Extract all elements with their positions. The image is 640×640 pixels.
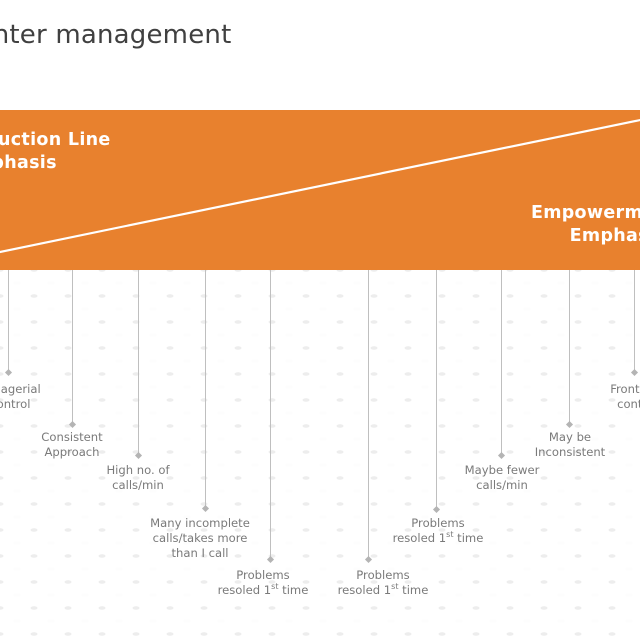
node-label-problems-resolved-first-time-2: Problemsresoled 1st time xyxy=(313,568,453,598)
node-label-problems-resolved-first-time-3: Problemsresoled 1st time xyxy=(368,516,508,546)
node-label-managerial-control: ...anagerial ...ontrol xyxy=(0,382,68,412)
connector-line xyxy=(569,270,570,424)
slide-canvas: center management ...oduction Line ...mp… xyxy=(0,0,640,640)
connector-line xyxy=(72,270,73,424)
node-label-front-line-control: Front-Lin... contro... xyxy=(576,382,640,412)
connector-line xyxy=(501,270,502,455)
banner-label-production-line-emphasis: ...oduction Line ...mphasis xyxy=(0,129,111,175)
banner-label-empowerment-emphasis: Empowerme... Emphasi... xyxy=(531,202,640,248)
connector-line xyxy=(205,270,206,508)
connector-line xyxy=(634,270,635,372)
connector-line xyxy=(138,270,139,455)
orange-banner: ...oduction Line ...mphasis Empowerme...… xyxy=(0,110,640,270)
connector-line xyxy=(270,270,271,559)
connector-line xyxy=(8,270,9,372)
node-label-problems-resolved-first-time-1: Problemsresoled 1st time xyxy=(193,568,333,598)
node-label-maybe-fewer-calls-min: Maybe fewer calls/min xyxy=(437,463,567,493)
node-label-may-be-inconsistent: May be Inconsistent xyxy=(505,430,635,460)
page-title: center management xyxy=(0,20,442,50)
node-label-many-incomplete-calls: Many incomplete calls/takes more than I … xyxy=(130,516,270,561)
node-label-consistent-approach: Consistent Approach xyxy=(12,430,132,460)
node-label-high-no-of-calls-min: High no. of calls/min xyxy=(78,463,198,493)
